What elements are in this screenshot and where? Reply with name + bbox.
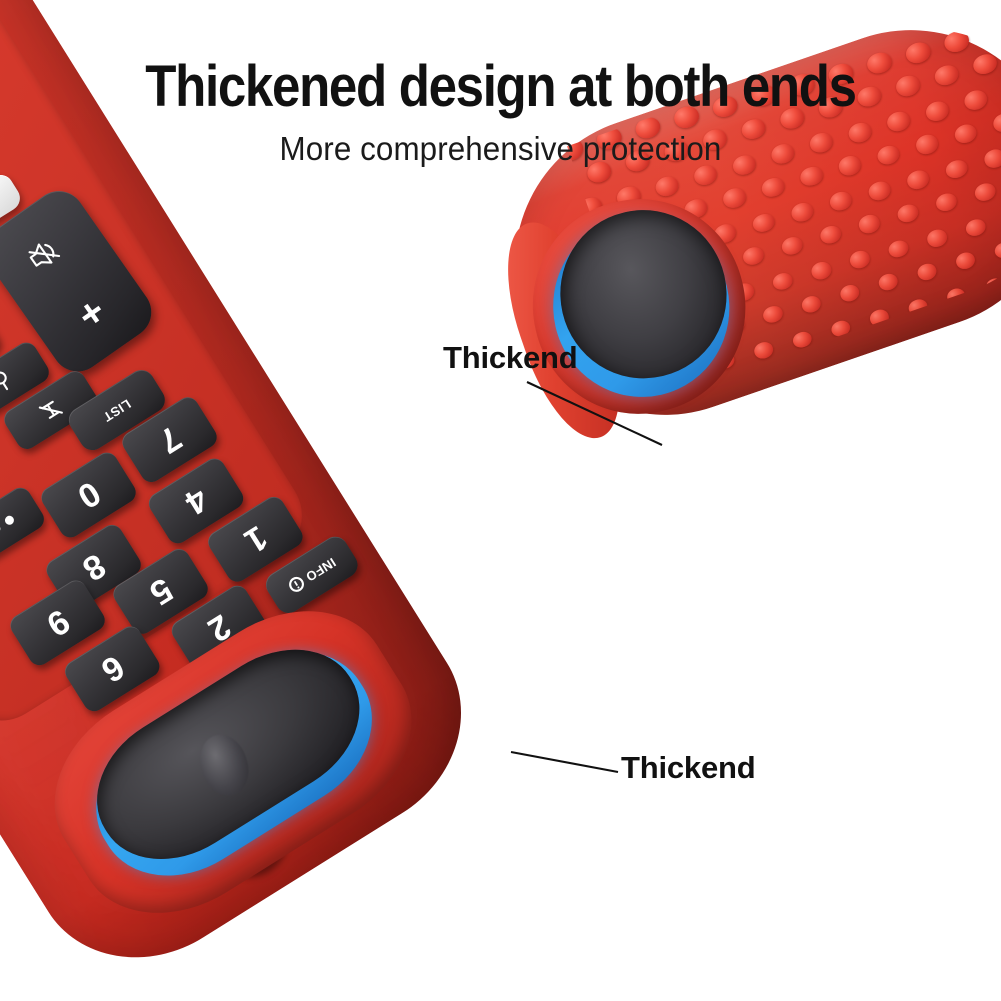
callout-leader-lines [0,0,1001,1001]
callout-label-bottom: Thickend [621,750,755,786]
leader-line-bottom [511,752,618,772]
leader-line-top [527,382,662,445]
product-marketing-image: GUIDE [0,0,1001,1001]
callout-label-top: Thickend [443,340,577,376]
